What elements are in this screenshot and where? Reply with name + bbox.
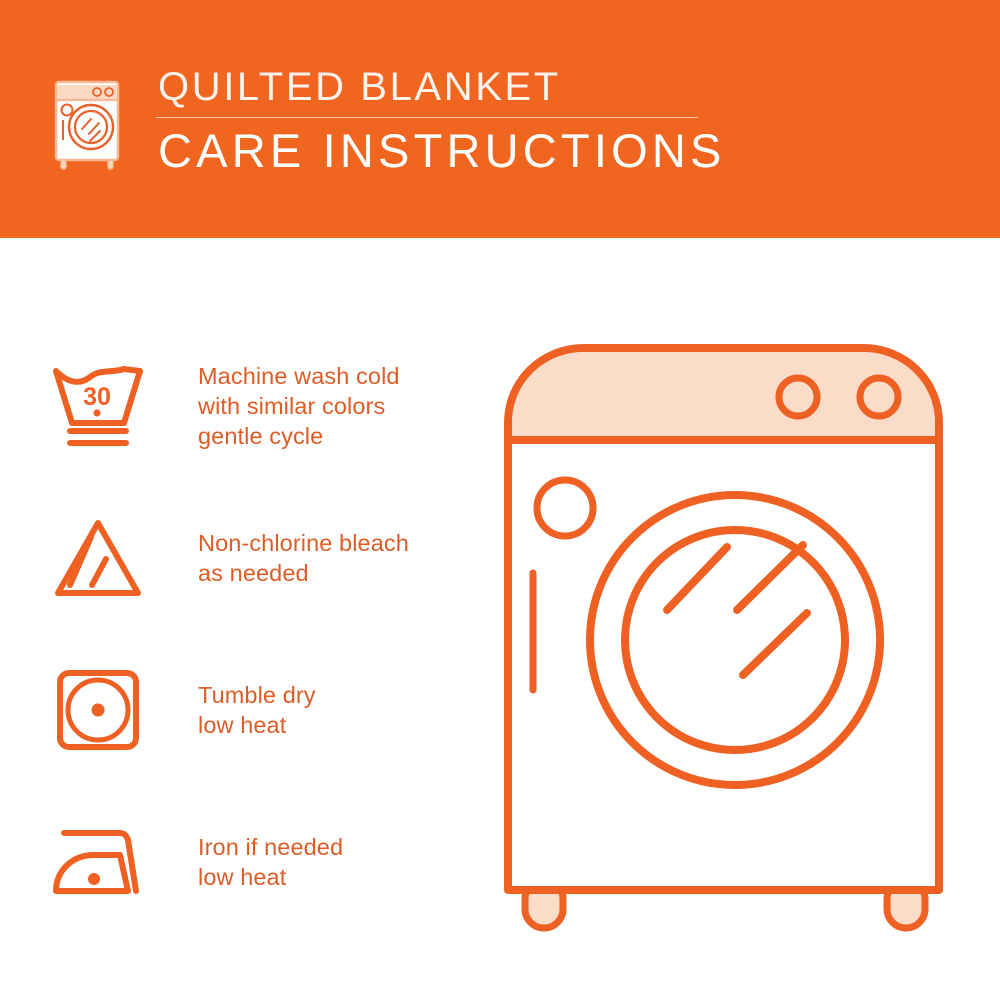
page-title-secondary: CARE INSTRUCTIONS [154, 124, 726, 178]
iron-low-heat-icon [50, 819, 146, 905]
washing-machine-icon [44, 66, 140, 176]
non-chlorine-bleach-triangle-icon [50, 515, 146, 601]
wash-temperature-label: 30 [83, 383, 111, 411]
header-title-block: QUILTED BLANKET CARE INSTRUCTIONS [154, 64, 726, 178]
care-text-iron: Iron if needed low heat [198, 832, 343, 892]
care-text-line: low heat [198, 710, 316, 740]
care-symbol-slot: 30 [50, 363, 162, 449]
care-text-line: Iron if needed [198, 832, 343, 862]
care-symbol-slot [50, 667, 162, 753]
tumble-dry-low-heat-icon [50, 667, 146, 753]
wash-basin-30-gentle-icon: 30 [50, 363, 146, 449]
care-text-bleach: Non-chlorine bleach as needed [198, 528, 409, 588]
washing-machine-illustration [495, 335, 965, 935]
header-banner: QUILTED BLANKET CARE INSTRUCTIONS [0, 0, 1000, 238]
care-text-line: Non-chlorine bleach [198, 528, 409, 558]
care-row-bleach: Non-chlorine bleach as needed [50, 482, 480, 634]
care-symbol-slot [50, 515, 162, 601]
header-content: QUILTED BLANKET CARE INSTRUCTIONS [44, 62, 726, 178]
care-text-tumble-dry: Tumble dry low heat [198, 680, 316, 740]
care-text-line: gentle cycle [198, 421, 400, 451]
title-divider [156, 117, 698, 118]
care-instruction-list: 30 Machine wash cold with similar colors… [50, 330, 480, 938]
care-symbol-slot [50, 819, 162, 905]
care-row-tumble-dry: Tumble dry low heat [50, 634, 480, 786]
care-text-machine-wash: Machine wash cold with similar colors ge… [198, 361, 400, 451]
care-text-line: Tumble dry [198, 680, 316, 710]
care-text-line: as needed [198, 558, 409, 588]
page-title-primary: QUILTED BLANKET [154, 64, 726, 110]
care-text-line: with similar colors [198, 391, 400, 421]
control-panel [512, 352, 935, 440]
care-text-line: Machine wash cold [198, 361, 400, 391]
care-text-line: low heat [198, 862, 343, 892]
care-row-machine-wash: 30 Machine wash cold with similar colors… [50, 330, 480, 482]
care-row-iron: Iron if needed low heat [50, 786, 480, 938]
